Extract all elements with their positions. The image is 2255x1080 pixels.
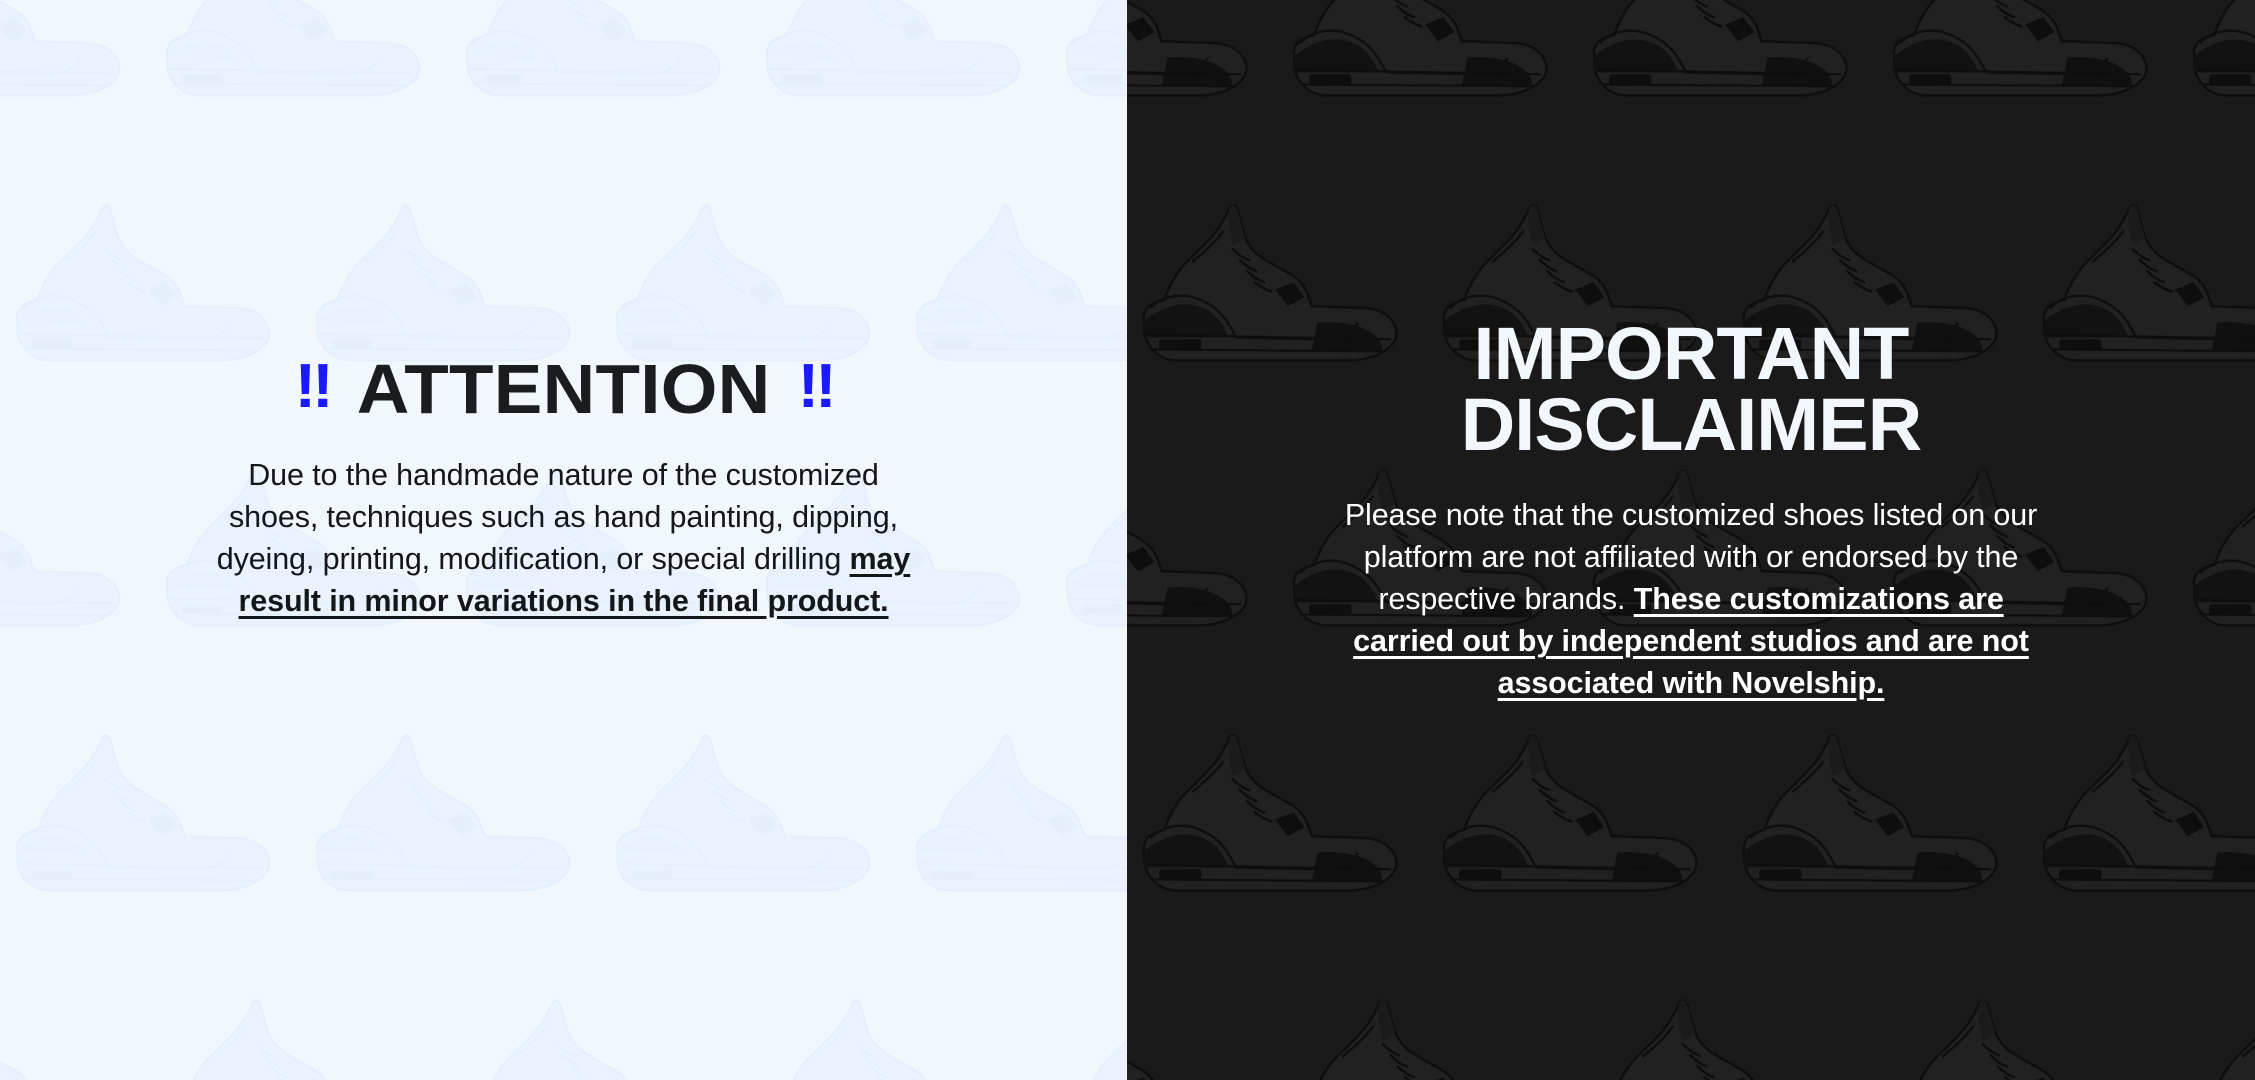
double-exclamation-icon-right: ‼ [797,356,832,418]
attention-panel: ‼ ATTENTION ‼ Due to the handmade nature… [0,0,1127,1080]
double-exclamation-icon-left: ‼ [294,356,329,418]
disclaimer-body-text: Please note that the customized shoes li… [1341,494,2041,704]
disclaimer-content: IMPORTANT DISCLAIMER Please note that th… [1127,0,2255,704]
attention-body-text: Due to the handmade nature of the custom… [214,454,914,622]
disclaimer-headline: IMPORTANT DISCLAIMER [1273,318,2109,460]
attention-headline: ‼ ATTENTION ‼ [294,354,832,424]
disclaimer-banner: ‼ ATTENTION ‼ Due to the handmade nature… [0,0,2255,1080]
attention-body-plain: Due to the handmade nature of the custom… [217,458,898,576]
disclaimer-panel: IMPORTANT DISCLAIMER Please note that th… [1127,0,2255,1080]
attention-content: ‼ ATTENTION ‼ Due to the handmade nature… [0,0,1127,622]
attention-headline-word: ATTENTION [357,354,771,424]
